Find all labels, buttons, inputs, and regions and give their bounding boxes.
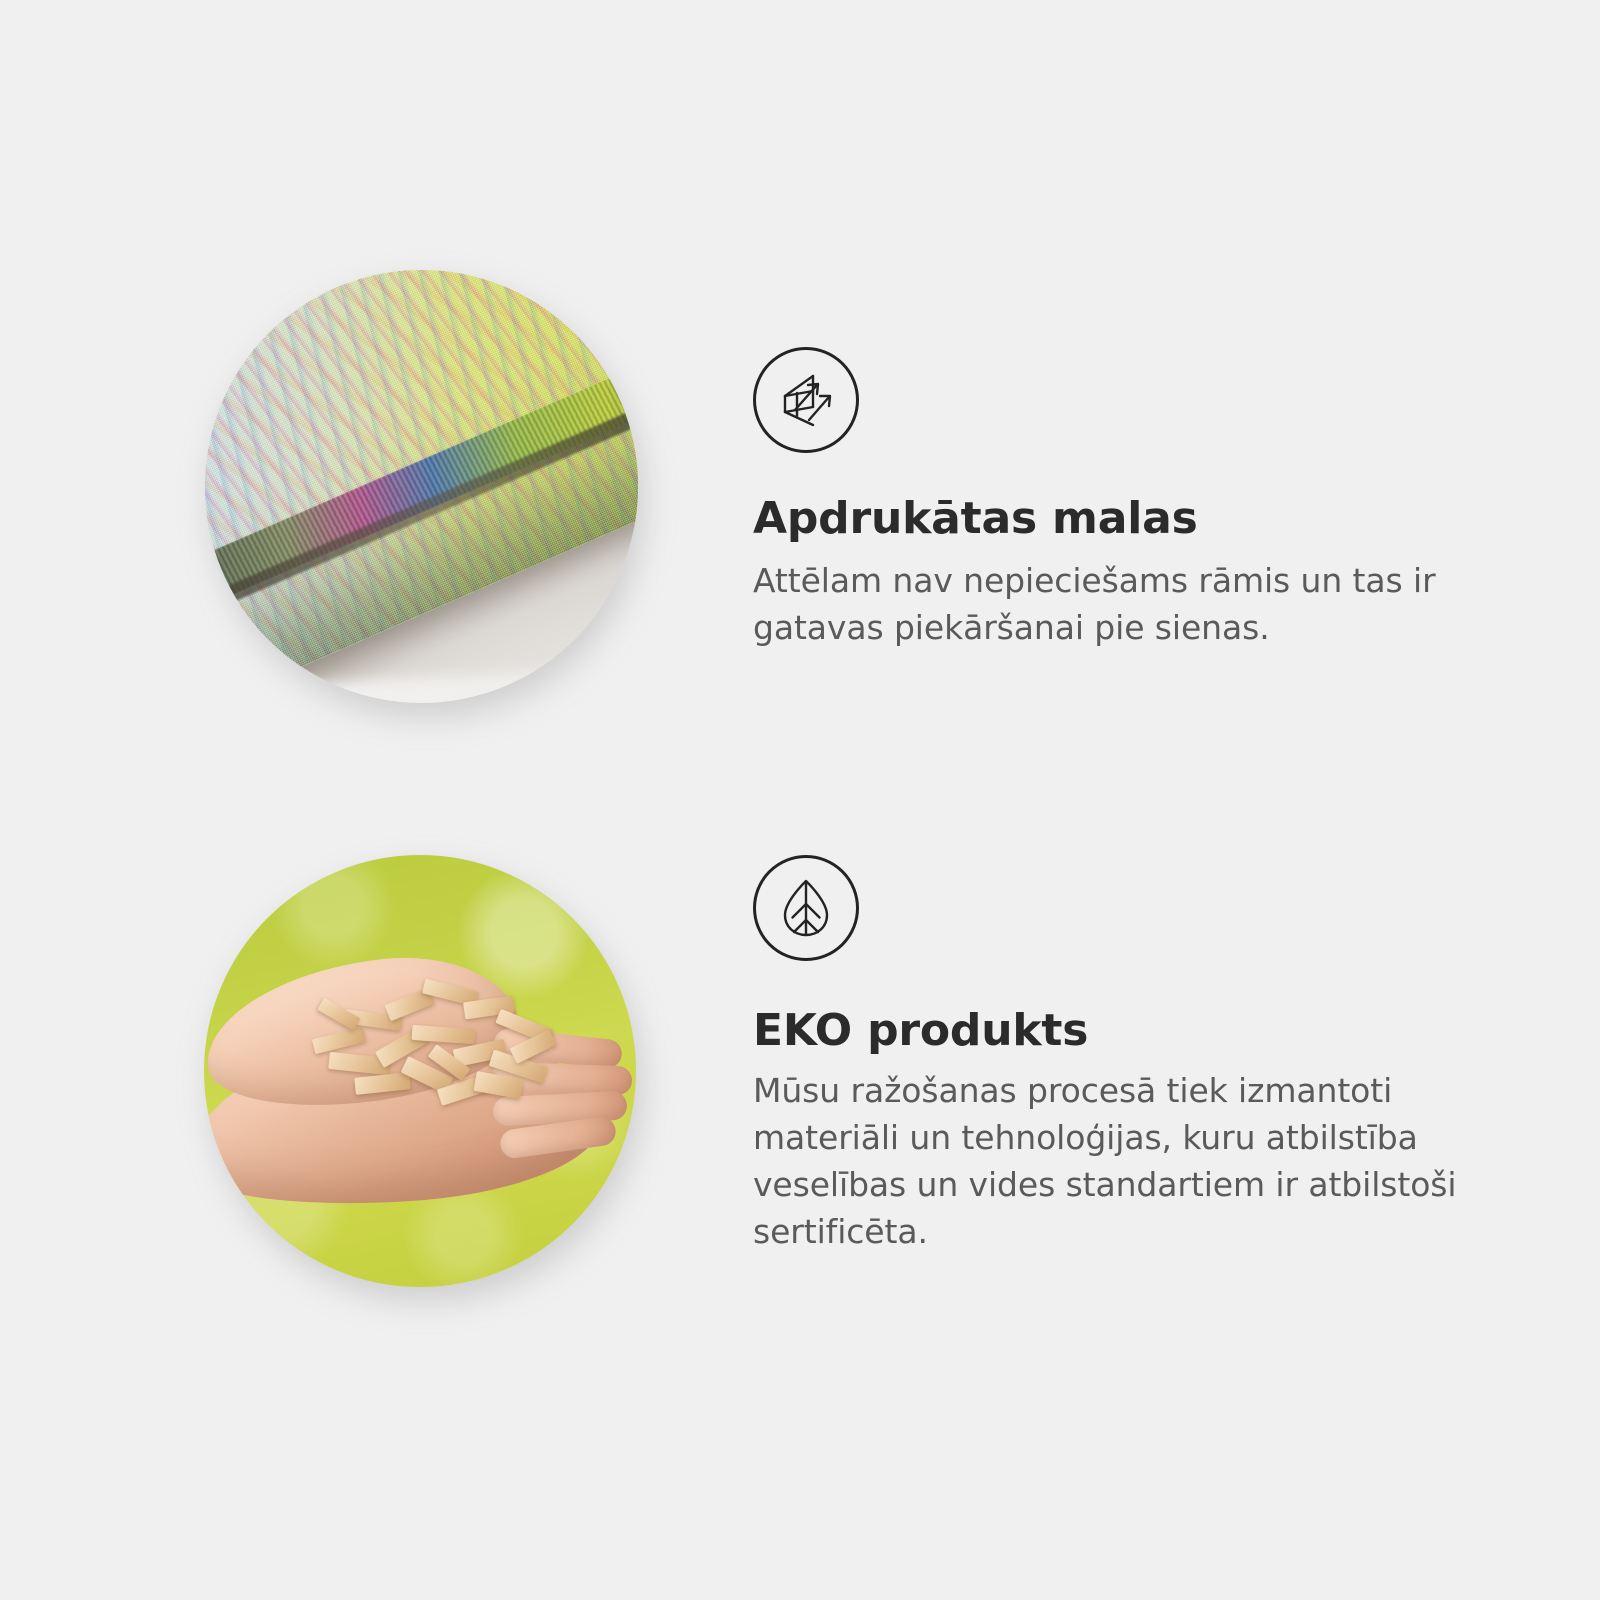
wood-chip xyxy=(473,1071,523,1098)
wood-chip xyxy=(318,998,361,1031)
product-feature-page: Apdrukātas malas Attēlam nav nepieciešam… xyxy=(0,0,1600,1600)
feature-description: Attēlam nav nepieciešams rāmis un tas ir… xyxy=(753,558,1475,652)
wood-chips-in-hands-photo xyxy=(204,855,636,1287)
feature-title: Apdrukātas malas xyxy=(753,497,1483,541)
wood-chips-photo-wrapper xyxy=(204,855,636,1287)
feature-text-column: Apdrukātas malas Attēlam nav nepieciešam… xyxy=(753,255,1483,652)
feature-block-printed-edges: Apdrukātas malas Attēlam nav nepieciešam… xyxy=(0,255,1600,775)
feature-description: Mūsu ražošanas procesā tiek izmantoti ma… xyxy=(753,1068,1475,1255)
feature-title: EKO produkts xyxy=(753,1009,1483,1053)
wood-chip xyxy=(354,1072,410,1094)
hands xyxy=(204,972,636,1223)
wood-chips-pile xyxy=(308,977,569,1117)
meadow-background xyxy=(204,855,636,1287)
printed-edges-icon xyxy=(753,347,859,453)
leaf-icon xyxy=(753,855,859,961)
canvas-corner-photo xyxy=(205,270,638,703)
canvas-corner-photo-wrapper xyxy=(205,270,638,703)
feature-text-column: EKO produkts Mūsu ražošanas procesā tiek… xyxy=(753,840,1483,1255)
canvas-scene-background xyxy=(205,270,638,703)
wood-chip xyxy=(312,1027,366,1055)
feature-block-eco-product: EKO produkts Mūsu ražošanas procesā tiek… xyxy=(0,840,1600,1360)
